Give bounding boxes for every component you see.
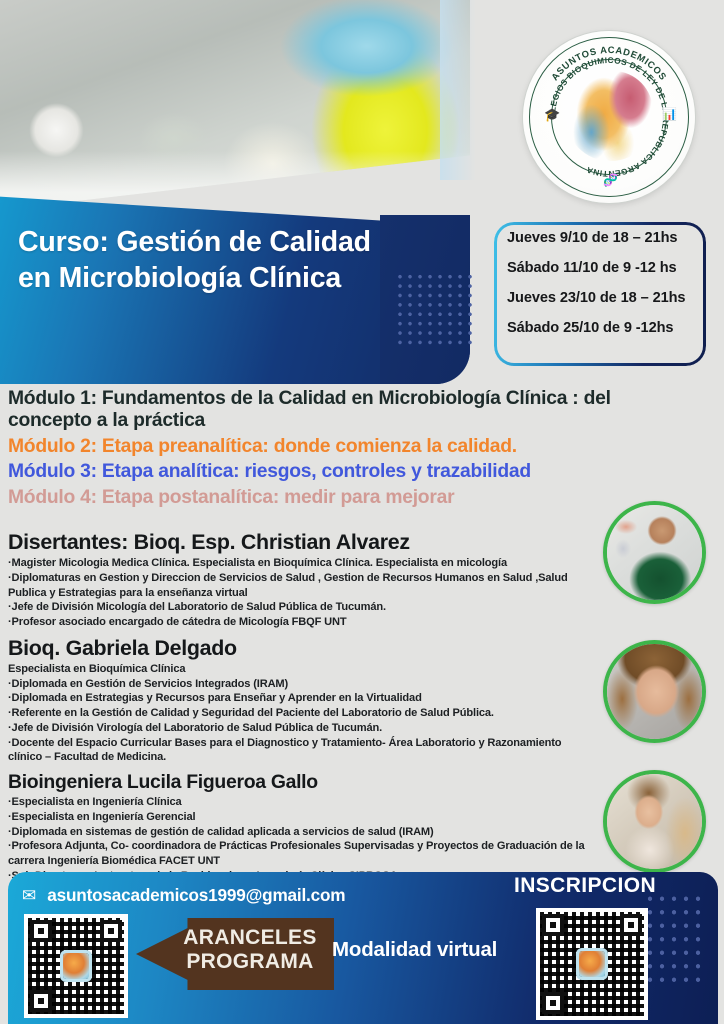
qr-finder-icon (100, 920, 122, 942)
dates-box: Jueves 9/10 de 18 – 21hs Sábado 11/10 de… (494, 222, 706, 366)
aranceles-programa-label: ARANCELES PROGRAMA (174, 926, 326, 975)
avatar-lucila-figueroa-gallo (603, 770, 706, 873)
list-item: ·Diplomada en sistemas de gestión de cal… (8, 825, 592, 840)
avatar-image (607, 505, 702, 600)
graduation-cap-icon: 🎓 (544, 107, 560, 123)
list-item: ·Profesor asociado encargado de cátedra … (8, 615, 592, 630)
list-item: ·Referente en la Gestión de Calidad y Se… (8, 706, 592, 721)
speaker-block-2: Bioq. Gabriela Delgado Especialista en B… (8, 637, 592, 765)
modality-label: Modalidad virtual (332, 938, 497, 962)
envelope-icon: ✉ (22, 887, 36, 904)
footer-dot-grid (644, 892, 704, 988)
qr-finder-icon (542, 914, 564, 936)
qr-pixels (28, 918, 124, 1014)
qr-finder-icon (30, 990, 52, 1012)
qr-finder-icon (30, 920, 52, 942)
speaker-credentials-2: Especialista en Bioquímica Clínica ·Dipl… (8, 662, 592, 765)
avatar-christian-alvarez (603, 501, 706, 604)
course-flyer: ASUNTOS ACADEMICOS COORDINADORA DE COLEG… (0, 0, 724, 1024)
lab-technician-image (0, 0, 470, 210)
list-item: ·Docente del Espacio Curricular Bases pa… (8, 736, 592, 766)
list-item: Especialista en Bioquímica Clínica (8, 662, 592, 677)
date-line-3: Jueves 23/10 de 18 – 21hs (507, 291, 695, 306)
speaker-name-3: Bioingeniera Lucila Figueroa Gallo (8, 772, 592, 793)
avatar-image (607, 774, 702, 869)
avatar-gabriela-delgado (603, 640, 706, 743)
email-row[interactable]: ✉ asuntosacademicos1999@gmail.com (22, 885, 345, 906)
list-item: ·Diplomada en Estrategias y Recursos par… (8, 691, 592, 706)
qr-pixels (540, 912, 644, 1016)
list-item: ·Jefe de División Micología del Laborato… (8, 600, 592, 615)
speaker-name-2: Bioq. Gabriela Delgado (8, 637, 592, 660)
aranceles-programa-qr[interactable] (24, 914, 128, 1018)
speakers-section: Disertantes: Bioq. Esp. Christian Alvare… (8, 531, 592, 891)
speaker-name-1: Disertantes: Bioq. Esp. Christian Alvare… (8, 531, 592, 554)
qr-finder-icon (542, 992, 564, 1014)
date-line-4: Sábado 25/10 de 9 -12hs (507, 321, 695, 336)
avatar-image (607, 644, 702, 739)
list-item: ·Jefe de División Virología del Laborato… (8, 721, 592, 736)
module-item-1: Módulo 1: Fundamentos de la Calidad en M… (8, 388, 668, 433)
aranceles-label: ARANCELES (174, 926, 326, 950)
date-line-2: Sábado 11/10 de 9 -12 hs (507, 261, 695, 276)
list-item: ·Profesora Adjunta, Co- coordinadora de … (8, 839, 592, 869)
hero-edge-fade (440, 0, 476, 180)
dna-icon: 🧬 (603, 173, 618, 187)
decorative-dot-grid (395, 272, 477, 346)
speaker-credentials-3: ·Especialista en Ingeniería Clínica ·Esp… (8, 795, 592, 884)
inscripcion-heading: INSCRIPCION (508, 874, 662, 898)
logo-emblem-shape (565, 71, 653, 161)
list-item: ·Especialista en Ingeniería Clínica (8, 795, 592, 810)
hero-lab-photo (0, 0, 470, 210)
module-item-3: Módulo 3: Etapa analítica: riesgos, cont… (8, 461, 668, 483)
page-title: Curso: Gestión de Calidad en Microbiolog… (18, 224, 390, 297)
qr-finder-icon (620, 914, 642, 936)
speaker-block-3: Bioingeniera Lucila Figueroa Gallo ·Espe… (8, 772, 592, 883)
speaker-credentials-1: ·Magister Micologia Medica Clínica. Espe… (8, 556, 592, 630)
date-line-1: Jueves 9/10 de 18 – 21hs (507, 231, 695, 246)
programa-label: PROGRAMA (174, 950, 326, 974)
module-item-2: Módulo 2: Etapa preanalítica: donde comi… (8, 436, 668, 458)
module-item-4: Módulo 4: Etapa postanalítica: medir par… (8, 487, 668, 509)
list-item: ·Diplomaturas en Gestion y Direccion de … (8, 571, 592, 601)
organization-logo: ASUNTOS ACADEMICOS COORDINADORA DE COLEG… (523, 31, 695, 203)
list-item: ·Magister Micologia Medica Clínica. Espe… (8, 556, 592, 571)
qr-logo-icon (63, 953, 89, 979)
modules-list: Módulo 1: Fundamentos de la Calidad en M… (8, 388, 668, 511)
email-address[interactable]: asuntosacademicos1999@gmail.com (47, 885, 345, 906)
inscripcion-qr[interactable] (536, 908, 648, 1020)
speaker-block-1: Disertantes: Bioq. Esp. Christian Alvare… (8, 531, 592, 630)
list-item: ·Diplomada en Gestión de Servicios Integ… (8, 677, 592, 692)
qr-logo-icon (579, 951, 605, 977)
bar-chart-icon: 📊 (662, 107, 677, 121)
list-item: ·Especialista en Ingeniería Gerencial (8, 810, 592, 825)
